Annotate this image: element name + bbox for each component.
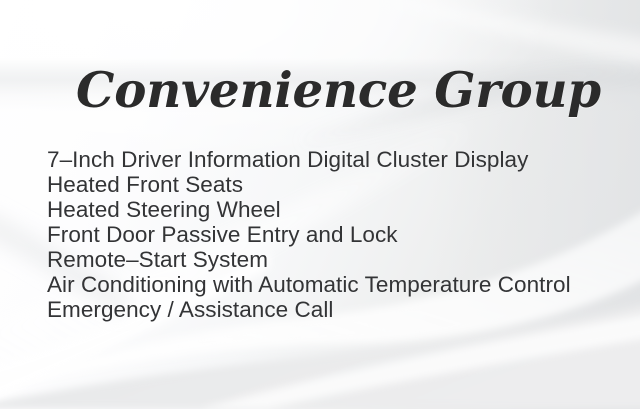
feature-list: 7–Inch Driver Information Digital Cluste… [47,147,571,322]
list-item: Emergency / Assistance Call [47,297,571,322]
slide-content: Convenience Group 7–Inch Driver Informat… [0,0,640,409]
list-item: Air Conditioning with Automatic Temperat… [47,272,571,297]
list-item: Heated Steering Wheel [47,197,571,222]
list-item: 7–Inch Driver Information Digital Cluste… [47,147,571,172]
feature-group-slide: Convenience Group 7–Inch Driver Informat… [0,0,640,409]
list-item: Remote–Start System [47,247,571,272]
page-title: Convenience Group [76,66,601,115]
list-item: Front Door Passive Entry and Lock [47,222,571,247]
list-item: Heated Front Seats [47,172,571,197]
